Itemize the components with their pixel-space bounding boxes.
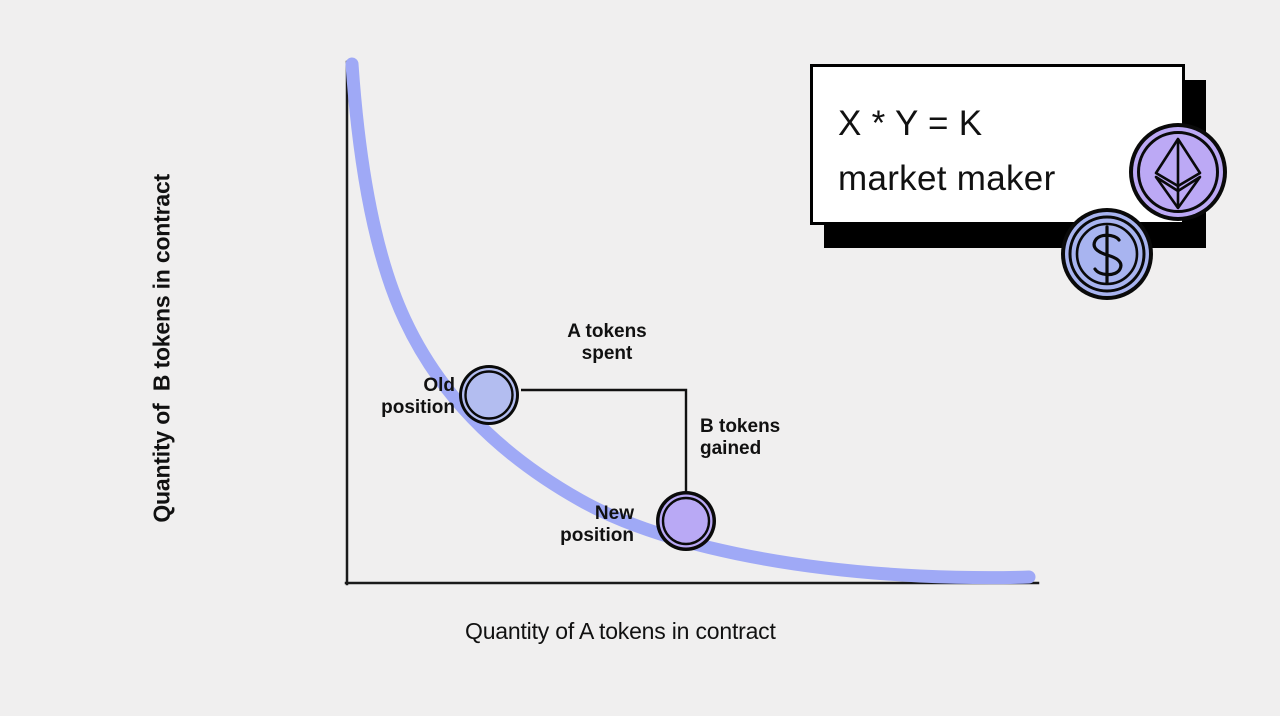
b-tokens-gained-label: B tokens gained (700, 416, 840, 460)
old-position-marker[interactable] (459, 365, 519, 425)
callout-text: X * Y = K market maker (838, 96, 1056, 207)
x-axis-label: Quantity of A tokens in contract (465, 618, 776, 645)
callout-formula: X * Y = K (838, 96, 1056, 151)
a-tokens-spent-label: A tokens spent (537, 321, 677, 365)
callout-subtitle: market maker (838, 151, 1056, 206)
old-position-label: Old position (325, 375, 455, 419)
diagram-canvas: Quantity of A tokens in contract Quantit… (0, 0, 1280, 716)
dollar-coin (1057, 204, 1157, 304)
new-position-marker[interactable] (656, 491, 716, 551)
y-axis-label: Quantity of B tokens in contract (149, 168, 176, 528)
new-position-label: New position (504, 503, 634, 547)
